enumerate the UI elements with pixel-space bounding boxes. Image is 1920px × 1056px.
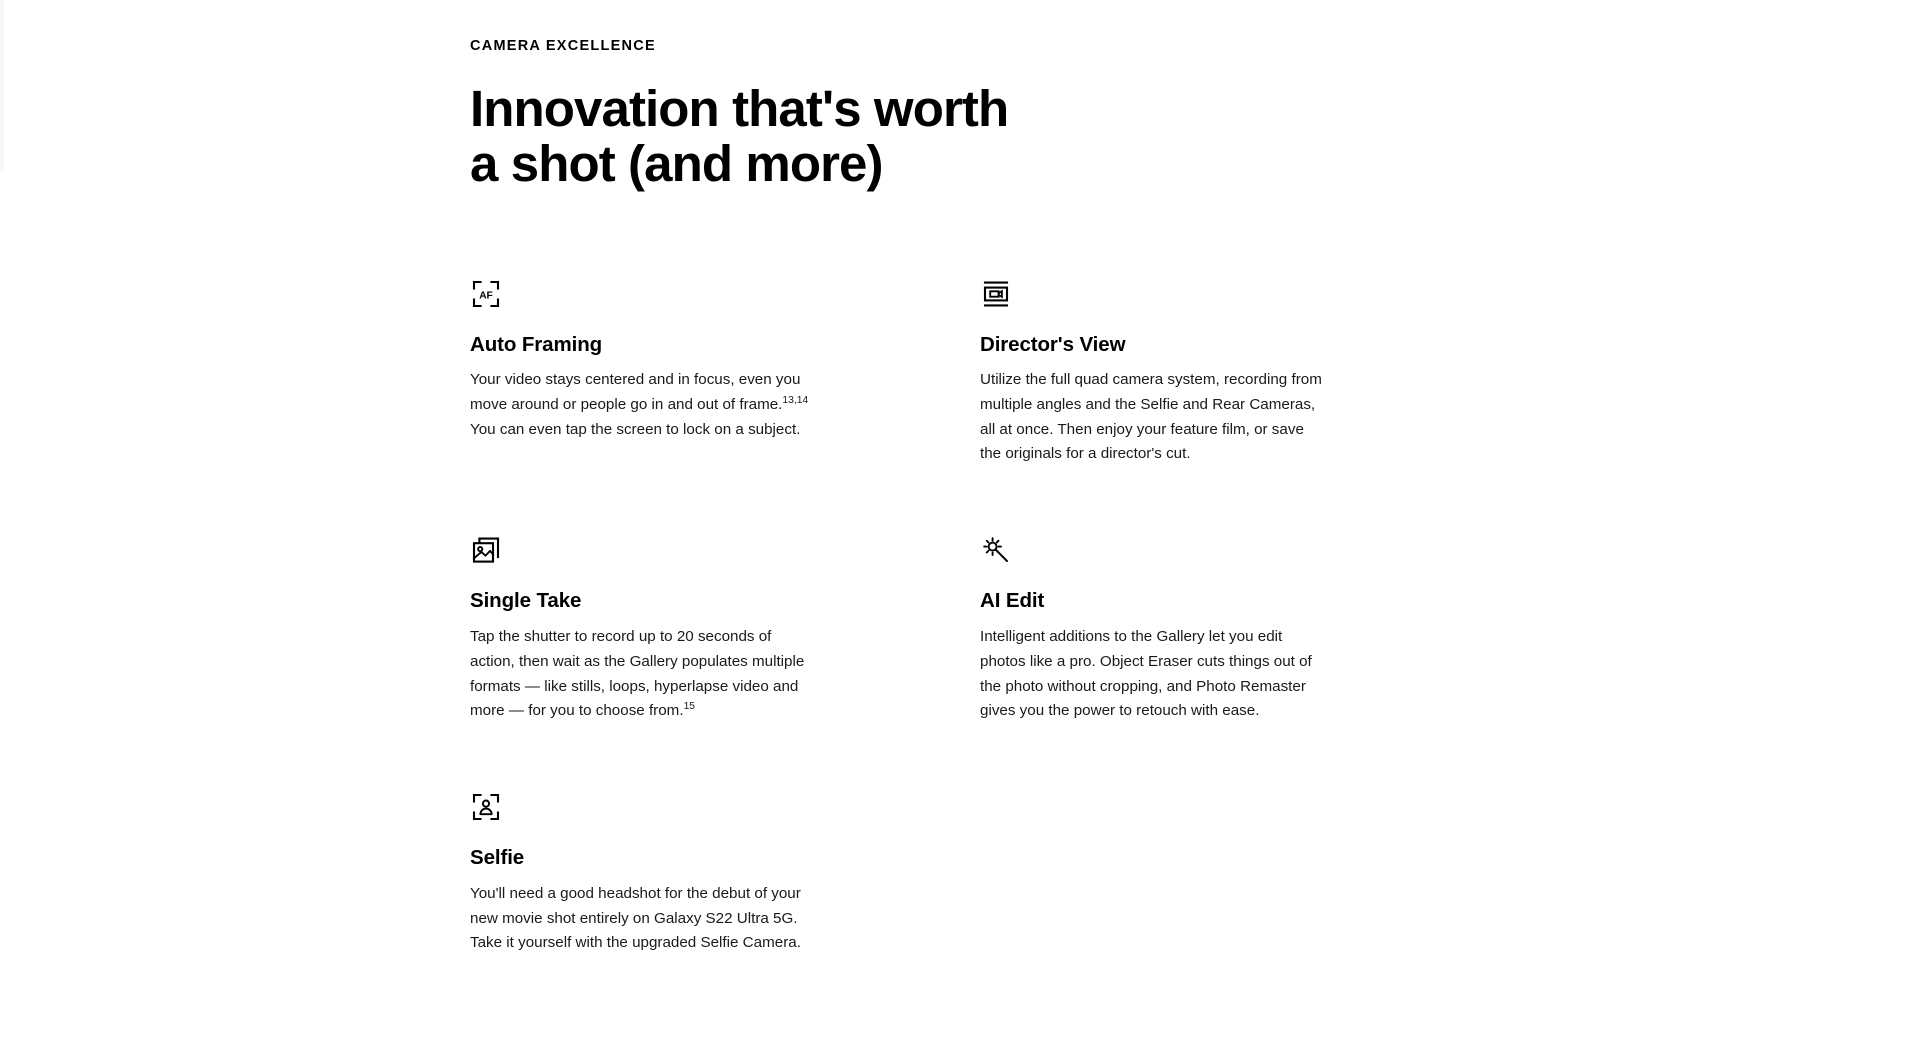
feature-footnote-ref: 13,14: [782, 395, 808, 406]
feature-body: Tap the shutter to record up to 20 secon…: [470, 625, 815, 724]
feature-card-auto-framing: AF Auto Framing Your video stays centere…: [470, 278, 815, 535]
feature-card-directors-view: Director's View Utilize the full quad ca…: [980, 278, 1325, 535]
feature-body-post: You can even tap the screen to lock on a…: [470, 421, 800, 438]
left-edge-strip: [0, 0, 4, 172]
directors-view-film-frame-camera-icon: [980, 278, 1012, 310]
feature-body-pre: Utilize the full quad camera system, rec…: [980, 371, 1322, 462]
selfie-person-brackets-icon: [470, 791, 502, 823]
feature-grid: AF Auto Framing Your video stays centere…: [470, 278, 1530, 1024]
feature-body: Intelligent additions to the Gallery let…: [980, 625, 1325, 724]
feature-card-ai-edit: AI Edit Intelligent additions to the Gal…: [980, 534, 1325, 791]
feature-footnote-ref: 15: [684, 701, 696, 712]
feature-title: Director's View: [980, 332, 1325, 358]
page-title: Innovation that's worth a shot (and more…: [470, 81, 1530, 191]
feature-body-pre: Tap the shutter to record up to 20 secon…: [470, 628, 804, 719]
feature-title: AI Edit: [980, 588, 1325, 614]
camera-excellence-section: CAMERA EXCELLENCE Innovation that's wort…: [0, 0, 1920, 1056]
ai-edit-magic-wand-sparkle-icon: [980, 534, 1012, 566]
single-take-stacked-photos-icon: [470, 534, 502, 566]
feature-title: Selfie: [470, 845, 815, 871]
feature-body-pre: You'll need a good headshot for the debu…: [470, 885, 801, 952]
feature-card-single-take: Single Take Tap the shutter to record up…: [470, 534, 815, 791]
feature-body-pre: Your video stays centered and in focus, …: [470, 371, 800, 413]
feature-card-selfie: Selfie You'll need a good headshot for t…: [470, 791, 815, 1023]
auto-framing-af-brackets-icon: AF: [470, 278, 502, 310]
feature-body: You'll need a good headshot for the debu…: [470, 882, 815, 956]
feature-title: Single Take: [470, 588, 815, 614]
section-content: CAMERA EXCELLENCE Innovation that's wort…: [470, 0, 1530, 1023]
feature-body-pre: Intelligent additions to the Gallery let…: [980, 628, 1312, 719]
feature-title: Auto Framing: [470, 332, 815, 358]
feature-body: Utilize the full quad camera system, rec…: [980, 368, 1325, 467]
section-eyebrow: CAMERA EXCELLENCE: [470, 38, 1530, 55]
feature-body: Your video stays centered and in focus, …: [470, 368, 815, 442]
svg-text:AF: AF: [479, 290, 493, 301]
